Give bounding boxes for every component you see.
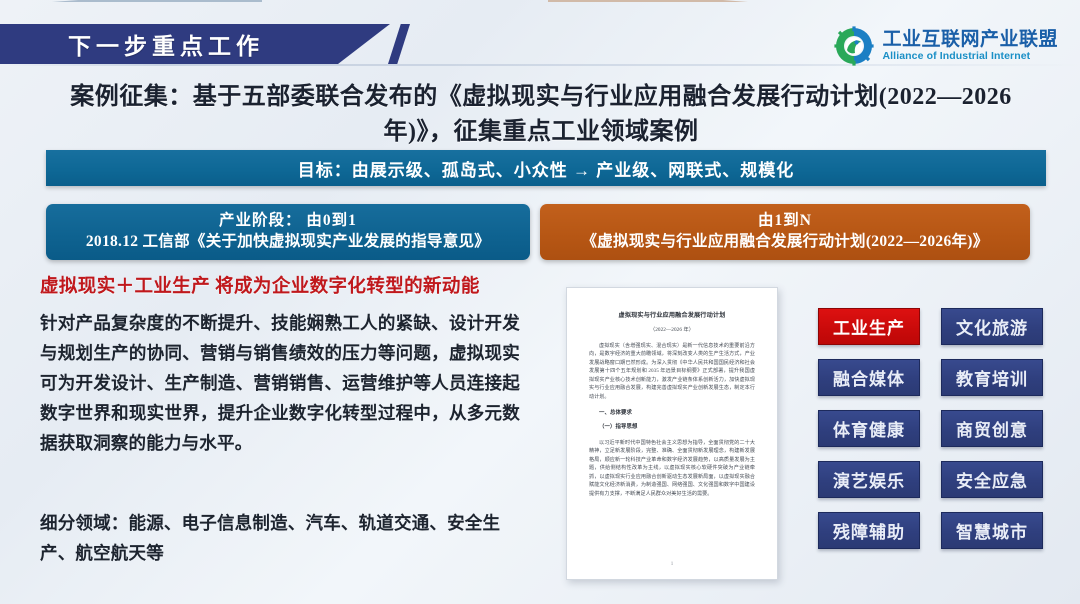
ribbon-tail-right-decoration <box>548 0 748 2</box>
stage-box-right: 由1到N 《虚拟现实与行业应用融合发展行动计划(2022—2026年)》 <box>540 204 1030 260</box>
logo-text: 工业互联网产业联盟 Alliance of Industrial Interne… <box>882 30 1058 63</box>
document-page-number: 1 <box>567 562 777 567</box>
domain-chip[interactable]: 安全应急 <box>941 461 1043 498</box>
document-page-content: 虚拟现实与行业应用融合发展行动计划 （2022—2026 年） 虚拟现实（含增强… <box>567 288 777 579</box>
subfields-paragraph: 细分领域：能源、电子信息制造、汽车、轨道交通、安全生产、航空航天等 <box>40 508 530 568</box>
domain-chip[interactable]: 教育培训 <box>941 359 1043 396</box>
highlight-heading: 虚拟现实＋工业生产 将成为企业数字化转型的新动能 <box>40 272 550 298</box>
header-banner: 下一步重点工作 <box>0 24 390 64</box>
domain-chip[interactable]: 文化旅游 <box>941 308 1043 345</box>
document-section-1: 一、总体要求 <box>589 408 755 416</box>
domain-chip[interactable]: 残障辅助 <box>818 512 920 549</box>
domain-chip[interactable]: 演艺娱乐 <box>818 461 920 498</box>
goal-banner-text: 目标：由展示级、孤岛式、小众性 → 产业级、网联式、规模化 <box>298 156 795 181</box>
body-paragraph: 针对产品复杂度的不断提升、技能娴熟工人的紧缺、设计开发与规划生产的协同、营销与销… <box>40 308 520 458</box>
domain-chip[interactable]: 体育健康 <box>818 410 920 447</box>
stage-right-line2: 《虚拟现实与行业应用融合发展行动计划(2022—2026年)》 <box>581 232 988 253</box>
presentation-slide: 下一步重点工作 <box>0 0 1080 604</box>
slide-main-title: 案例征集：基于五部委联合发布的《虚拟现实与行业应用融合发展行动计划(2022—2… <box>36 80 1046 150</box>
document-section-2: （一）指导思想 <box>589 422 755 430</box>
header-slash-decoration <box>388 24 410 64</box>
stage-right-line1: 由1到N <box>758 211 812 232</box>
stage-left-line2: 2018.12 工信部《关于加快虚拟现实产业发展的指导意见》 <box>86 232 490 253</box>
stage-left-line1: 产业阶段： 由0到1 <box>219 211 357 232</box>
domain-chip[interactable]: 工业生产 <box>818 308 920 345</box>
document-subtitle: （2022—2026 年） <box>589 326 755 333</box>
industrial-internet-gear-logo-icon <box>834 26 874 66</box>
header-banner-title: 下一步重点工作 <box>68 27 264 61</box>
domain-chip[interactable]: 商贸创意 <box>941 410 1043 447</box>
logo-english-name: Alliance of Industrial Internet <box>882 51 1058 62</box>
goal-banner: 目标：由展示级、孤岛式、小众性 → 产业级、网联式、规模化 <box>46 150 1046 186</box>
ribbon-tail-left-decoration <box>52 0 262 2</box>
organization-logo: 工业互联网产业联盟 Alliance of Industrial Interne… <box>834 26 1058 66</box>
stage-box-left: 产业阶段： 由0到1 2018.12 工信部《关于加快虚拟现实产业发展的指导意见… <box>46 204 530 260</box>
application-domain-grid: 工业生产文化旅游融合媒体教育培训体育健康商贸创意演艺娱乐安全应急残障辅助智慧城市 <box>818 308 1068 549</box>
domain-chip[interactable]: 智慧城市 <box>941 512 1043 549</box>
document-title: 虚拟现实与行业应用融合发展行动计划 <box>589 312 755 321</box>
document-paragraph-2: 以习近平新时代中国特色社会主义思想为指导，全面贯彻党的二十大精神，立足新发展阶段… <box>589 439 755 499</box>
logo-chinese-name: 工业互联网产业联盟 <box>882 30 1058 50</box>
policy-document-thumbnail: 虚拟现实与行业应用融合发展行动计划 （2022—2026 年） 虚拟现实（含增强… <box>566 287 778 580</box>
document-paragraph-1: 虚拟现实（含增强现实、混合现实）是新一代信息技术的重要前沿方向，是数字经济的重大… <box>589 342 755 402</box>
domain-chip[interactable]: 融合媒体 <box>818 359 920 396</box>
